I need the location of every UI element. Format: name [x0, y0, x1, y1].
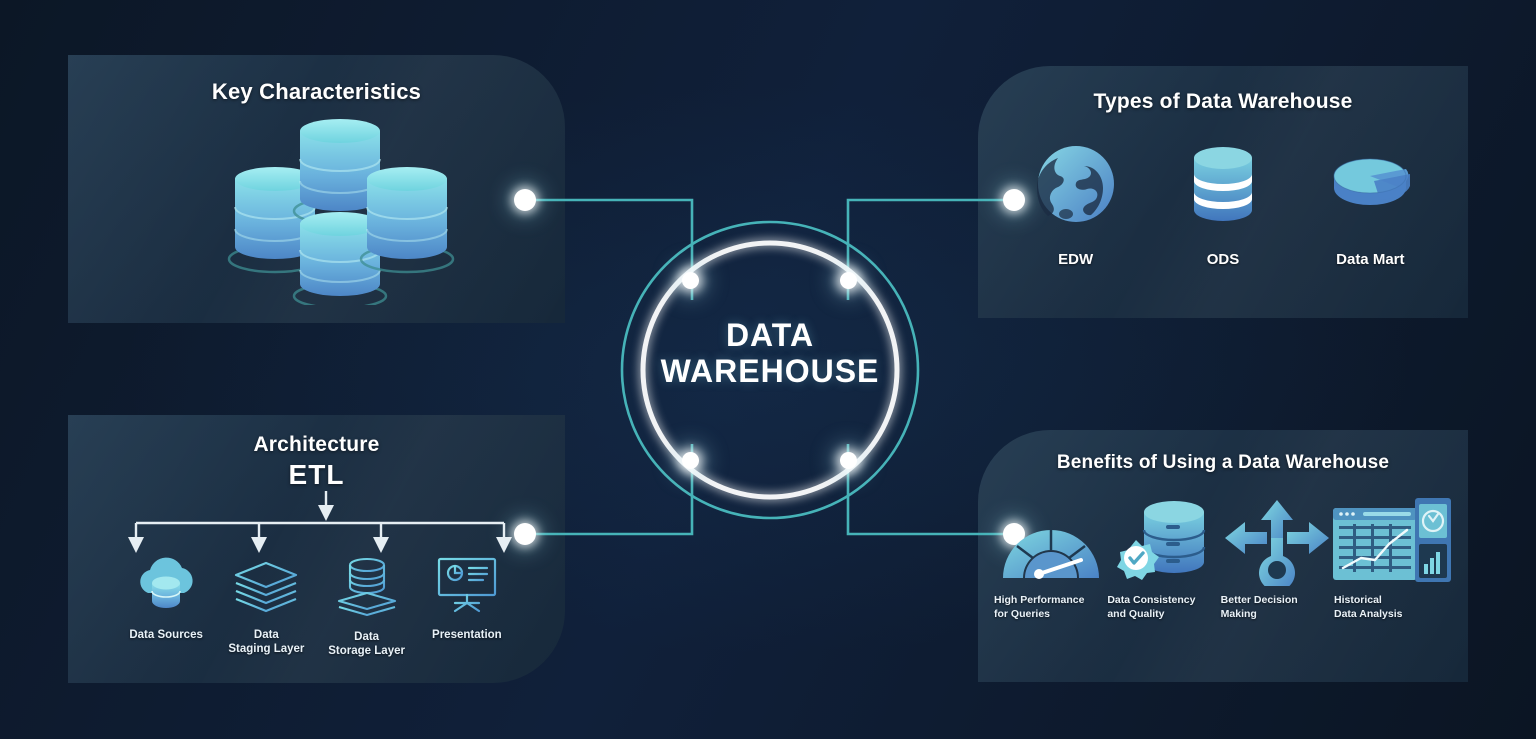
globe-icon: [1028, 136, 1124, 237]
panel-benefits: Benefits of Using a Data Warehouse High …: [978, 430, 1468, 682]
type-item-ods[interactable]: ODS: [1149, 136, 1296, 268]
benefit-label-high-performance: High Performancefor Queries: [994, 594, 1084, 621]
arch-label-data-storage-layer: DataStorage Layer: [328, 630, 405, 659]
verified-database-icon: [1108, 490, 1220, 586]
benefit-label-better-decision: Better DecisionMaking: [1221, 594, 1298, 621]
analytics-dashboard-icon: [1331, 490, 1453, 586]
etl-flow-label: ETL: [68, 459, 565, 491]
benefit-item-historical-analysis[interactable]: HistoricalData Analysis: [1334, 490, 1450, 621]
arch-item-data-staging-layer[interactable]: DataStaging Layer: [216, 553, 316, 659]
cloud-database-icon: [126, 553, 206, 620]
architecture-flow: Data Sources DataStaging Layer: [68, 491, 565, 656]
type-label-edw: EDW: [1058, 251, 1093, 268]
arch-item-data-sources[interactable]: Data Sources: [116, 553, 216, 659]
panel-title-types: Types of Data Warehouse: [978, 90, 1468, 114]
arch-label-data-staging-layer: DataStaging Layer: [228, 628, 304, 657]
type-item-data-mart[interactable]: Data Mart: [1297, 136, 1444, 268]
architecture-items-row: Data Sources DataStaging Layer: [68, 553, 565, 659]
type-label-data-mart: Data Mart: [1336, 251, 1404, 268]
benefit-item-data-consistency[interactable]: Data Consistencyand Quality: [1107, 490, 1220, 621]
benefit-label-data-consistency: Data Consistencyand Quality: [1107, 594, 1195, 621]
arch-item-presentation[interactable]: Presentation: [417, 553, 517, 659]
presentation-board-icon: [427, 553, 507, 620]
benefit-label-historical-analysis: HistoricalData Analysis: [1334, 594, 1402, 621]
type-label-ods: ODS: [1207, 251, 1240, 268]
arch-label-presentation: Presentation: [432, 628, 502, 642]
arch-label-data-sources: Data Sources: [129, 628, 203, 642]
benefits-icon-row: High Performancefor Queries: [978, 474, 1468, 621]
panel-title-benefits: Benefits of Using a Data Warehouse: [978, 452, 1468, 474]
speed-gauge-icon: [995, 490, 1107, 586]
arch-item-data-storage-layer[interactable]: DataStorage Layer: [317, 553, 417, 659]
panel-key-characteristics: Key Characteristics: [68, 55, 565, 323]
pie-slice-disc-icon: [1322, 136, 1418, 237]
type-item-edw[interactable]: EDW: [1002, 136, 1149, 268]
panel-title-architecture: Architecture: [68, 433, 565, 457]
decision-arrows-icon: [1223, 490, 1331, 586]
stacked-layers-icon: [226, 553, 306, 620]
benefit-item-high-performance[interactable]: High Performancefor Queries: [994, 490, 1107, 621]
panel-types-of-data-warehouse: Types of Data Warehouse EDW: [978, 66, 1468, 318]
database-on-layers-icon: [327, 553, 407, 622]
database-cylinder-icon: [1175, 136, 1271, 237]
panel-architecture: Architecture ETL: [68, 415, 565, 683]
stacked-database-cylinders-icon: [68, 105, 565, 305]
panel-title-key-characteristics: Key Characteristics: [68, 79, 565, 105]
benefit-item-better-decision[interactable]: Better DecisionMaking: [1221, 490, 1334, 621]
types-icon-row: EDW ODS: [978, 136, 1468, 268]
